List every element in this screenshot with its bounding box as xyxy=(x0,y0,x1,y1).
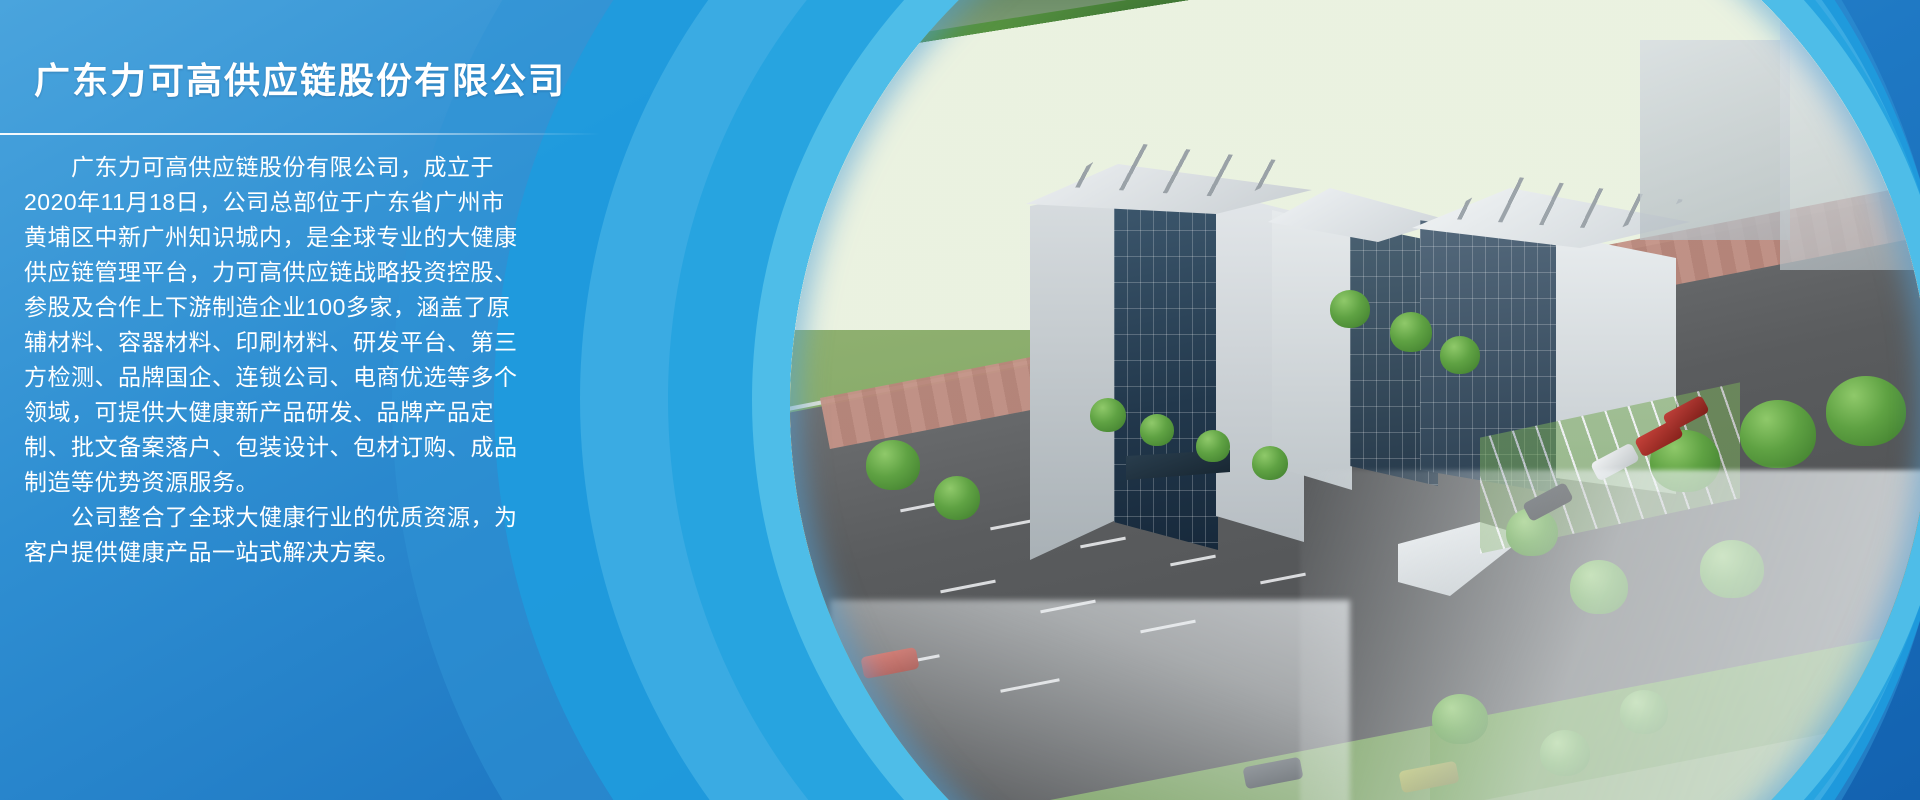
background-tower xyxy=(1640,40,1790,240)
title-divider xyxy=(0,133,600,135)
text-line: 制造等优势资源服务。 xyxy=(24,465,520,500)
text-line: 黄埔区中新广州知识城内，是全球专业的大健康 xyxy=(24,220,520,255)
tree xyxy=(1390,312,1432,352)
tree xyxy=(1252,446,1288,480)
text-line: 广东力可高供应链股份有限公司，成立于 xyxy=(24,150,520,185)
text-line: 客户提供健康产品一站式解决方案。 xyxy=(24,535,520,570)
text-line: 制、批文备案落户、包装设计、包材订购、成品 xyxy=(24,430,520,465)
building-photo xyxy=(790,0,1920,800)
page-title: 广东力可高供应链股份有限公司 xyxy=(34,52,566,104)
tree xyxy=(1196,430,1230,462)
tree xyxy=(1140,414,1174,446)
company-profile-banner: 广东力可高供应链股份有限公司 广东力可高供应链股份有限公司，成立于 2020年1… xyxy=(0,0,1920,800)
atmospheric-haze xyxy=(1300,470,1920,800)
paragraph-summary: 公司整合了全球大健康行业的优质资源，为 客户提供健康产品一站式解决方案。 xyxy=(24,500,520,570)
glass-grid xyxy=(1114,178,1218,558)
text-line: 辅材料、容器材料、印刷材料、研发平台、第三 xyxy=(24,325,520,360)
tree xyxy=(934,476,980,520)
mid-block-face xyxy=(1272,210,1352,490)
atmospheric-haze xyxy=(830,600,1350,800)
text-line: 2020年11月18日，公司总部位于广东省广州市 xyxy=(24,185,520,220)
text-line: 方检测、品牌国企、连锁公司、电商优选等多个 xyxy=(24,360,520,395)
text-column: 广东力可高供应链股份有限公司 广东力可高供应链股份有限公司，成立于 2020年1… xyxy=(0,0,600,800)
text-line: 供应链管理平台，力可高供应链战略投资控股、 xyxy=(24,255,520,290)
text-line: 参股及合作上下游制造企业100多家，涵盖了原 xyxy=(24,290,520,325)
text-line: 领域，可提供大健康新产品研发、品牌产品定 xyxy=(24,395,520,430)
building-photo-scene xyxy=(790,0,1920,800)
tree xyxy=(1826,376,1906,446)
tree xyxy=(1740,400,1816,468)
tree xyxy=(1440,336,1480,374)
background-tower xyxy=(1780,20,1920,270)
company-description: 广东力可高供应链股份有限公司，成立于 2020年11月18日，公司总部位于广东省… xyxy=(24,150,520,570)
tower-glass-curtain xyxy=(1114,178,1218,558)
main-tower xyxy=(1030,150,1300,570)
text-line: 公司整合了全球大健康行业的优质资源，为 xyxy=(24,500,520,535)
tree xyxy=(1330,290,1370,328)
tree xyxy=(866,440,920,490)
paragraph-intro: 广东力可高供应链股份有限公司，成立于 2020年11月18日，公司总部位于广东省… xyxy=(24,150,520,500)
tower-left-face xyxy=(1030,190,1116,560)
tree xyxy=(1090,398,1126,432)
